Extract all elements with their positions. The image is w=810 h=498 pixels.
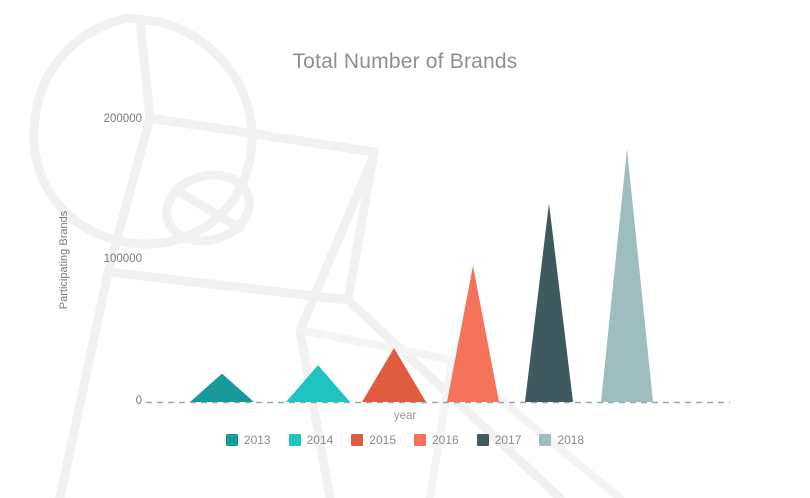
data-marks xyxy=(190,149,653,402)
mark-2017 xyxy=(525,203,573,402)
chart-container: Total Number of Brands Participating Bra… xyxy=(0,0,810,498)
legend-swatch-icon xyxy=(226,434,238,446)
legend-swatch-icon xyxy=(414,434,426,446)
mark-2013 xyxy=(190,374,254,402)
legend-label: 2013 xyxy=(244,433,271,447)
legend-item-2017[interactable]: 2017 xyxy=(477,433,522,447)
legend-label: 2015 xyxy=(369,433,396,447)
legend-item-2015[interactable]: 2015 xyxy=(351,433,396,447)
mark-2014 xyxy=(286,365,350,402)
chart-legend: 2013 2014 2015 2016 2017 2018 xyxy=(0,433,810,447)
legend-item-2018[interactable]: 2018 xyxy=(539,433,584,447)
mark-2018 xyxy=(601,149,653,402)
x-axis-label: year xyxy=(0,410,810,422)
legend-swatch-icon xyxy=(351,434,363,446)
legend-item-2014[interactable]: 2014 xyxy=(289,433,334,447)
plot-area xyxy=(0,0,810,498)
legend-label: 2017 xyxy=(495,433,522,447)
legend-swatch-icon xyxy=(477,434,489,446)
legend-label: 2014 xyxy=(307,433,334,447)
legend-label: 2018 xyxy=(557,433,584,447)
legend-item-2013[interactable]: 2013 xyxy=(226,433,271,447)
legend-swatch-icon xyxy=(539,434,551,446)
legend-label: 2016 xyxy=(432,433,459,447)
legend-item-2016[interactable]: 2016 xyxy=(414,433,459,447)
mark-2016 xyxy=(447,266,499,402)
mark-2015 xyxy=(362,348,426,402)
legend-swatch-icon xyxy=(289,434,301,446)
